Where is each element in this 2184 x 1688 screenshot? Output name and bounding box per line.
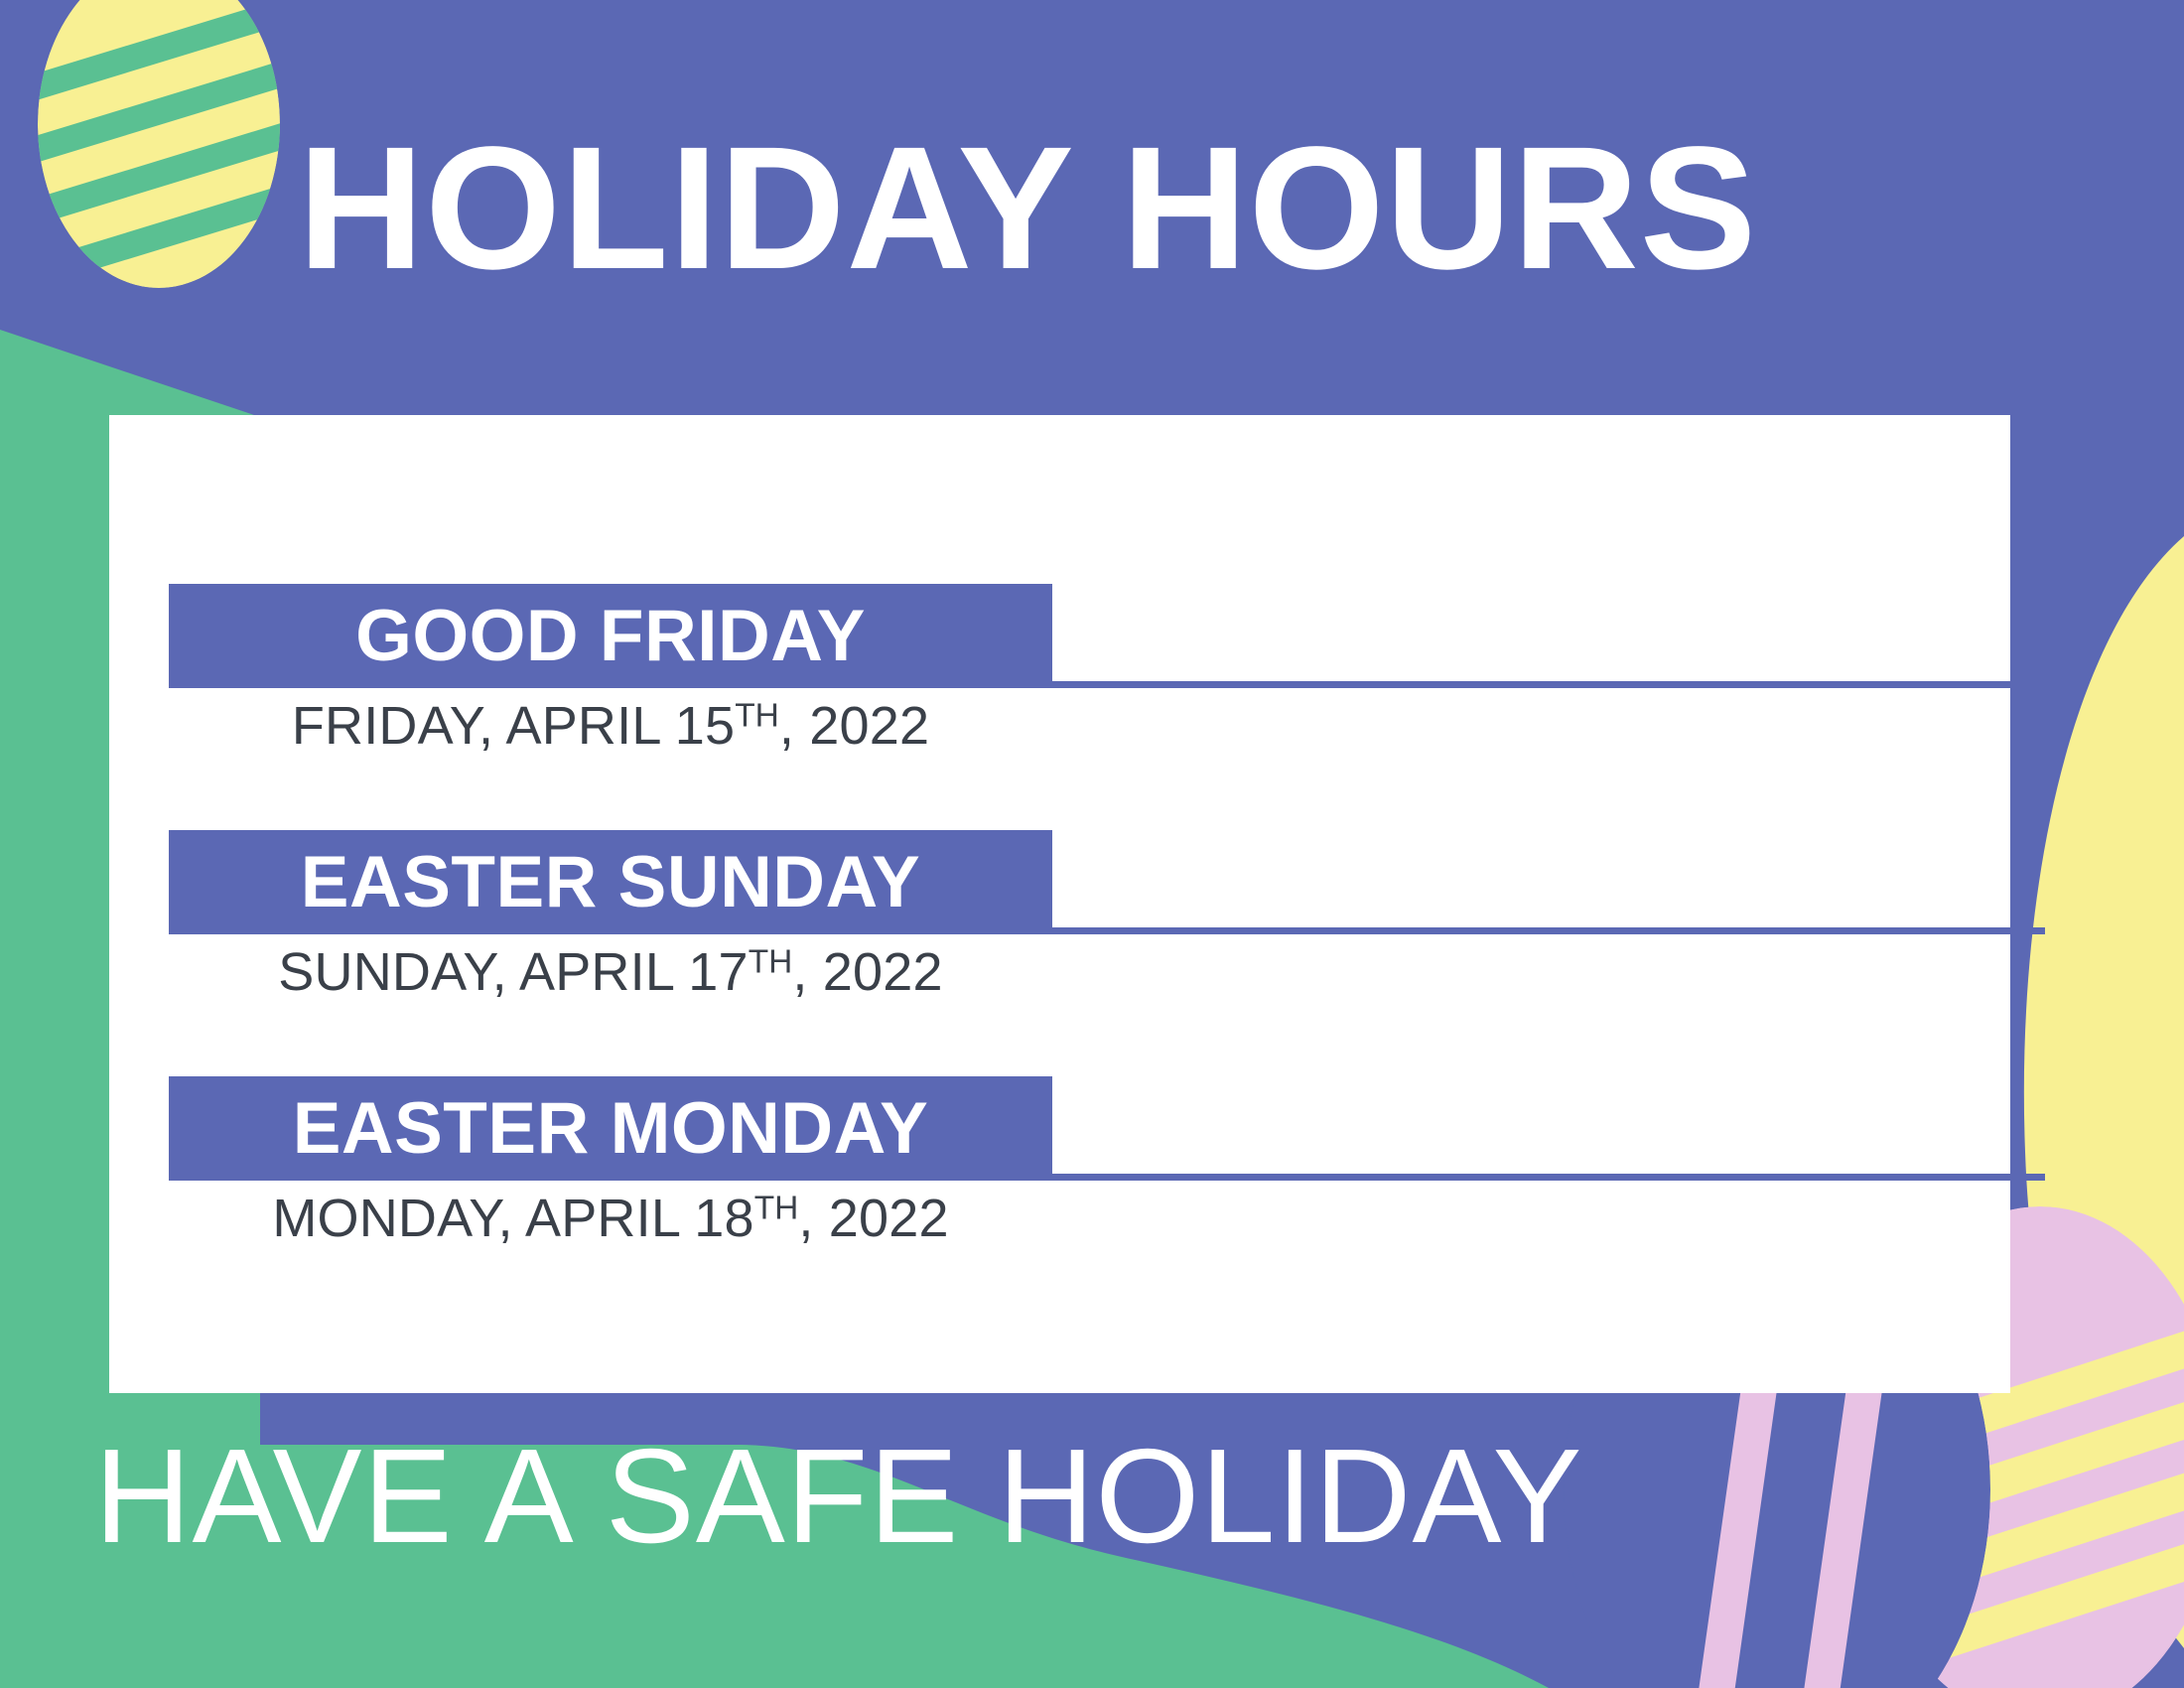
holiday-date-prefix: SUNDAY, APRIL 17 bbox=[278, 942, 748, 1002]
footer-message: HAVE A SAFE HOLIDAY bbox=[94, 1422, 1583, 1571]
holiday-date-label: MONDAY, APRIL 18TH, 2022 bbox=[169, 1188, 1052, 1249]
holiday-date-label: FRIDAY, APRIL 15TH, 2022 bbox=[169, 695, 1052, 757]
holiday-entry: EASTER MONDAY MONDAY, APRIL 18TH, 2022 bbox=[109, 1049, 2010, 1295]
holiday-hours-rule[interactable] bbox=[1052, 927, 2045, 934]
holiday-name-label: EASTER SUNDAY bbox=[301, 846, 920, 918]
holiday-name-label: GOOD FRIDAY bbox=[355, 600, 866, 672]
holiday-name-label: EASTER MONDAY bbox=[293, 1092, 929, 1165]
holiday-date-suffix: , 2022 bbox=[792, 942, 942, 1002]
holiday-name-band: EASTER SUNDAY bbox=[169, 830, 1052, 934]
holiday-date-label: SUNDAY, APRIL 17TH, 2022 bbox=[169, 941, 1052, 1003]
holiday-date-ordinal: TH bbox=[735, 698, 779, 735]
holiday-date-prefix: MONDAY, APRIL 18 bbox=[272, 1189, 753, 1248]
holiday-date-ordinal: TH bbox=[754, 1191, 799, 1227]
holiday-date-prefix: FRIDAY, APRIL 15 bbox=[292, 696, 735, 756]
holiday-hours-poster: HOLIDAY HOURS GOOD FRIDAY FRIDAY, APRIL … bbox=[0, 0, 2184, 1688]
holiday-hours-rule[interactable] bbox=[1052, 1174, 2045, 1181]
holiday-entry: GOOD FRIDAY FRIDAY, APRIL 15TH, 2022 bbox=[109, 556, 2010, 802]
holiday-hours-rule[interactable] bbox=[1052, 681, 2045, 688]
holiday-entry: EASTER SUNDAY SUNDAY, APRIL 17TH, 2022 bbox=[109, 802, 2010, 1049]
holiday-name-band: EASTER MONDAY bbox=[169, 1076, 1052, 1181]
page-title: HOLIDAY HOURS bbox=[298, 117, 1926, 301]
holiday-date-suffix: , 2022 bbox=[779, 696, 929, 756]
holiday-date-ordinal: TH bbox=[749, 944, 793, 981]
holiday-entry-list: GOOD FRIDAY FRIDAY, APRIL 15TH, 2022 EAS… bbox=[109, 556, 2010, 1295]
holiday-name-band: GOOD FRIDAY bbox=[169, 584, 1052, 688]
holiday-date-suffix: , 2022 bbox=[798, 1189, 948, 1248]
